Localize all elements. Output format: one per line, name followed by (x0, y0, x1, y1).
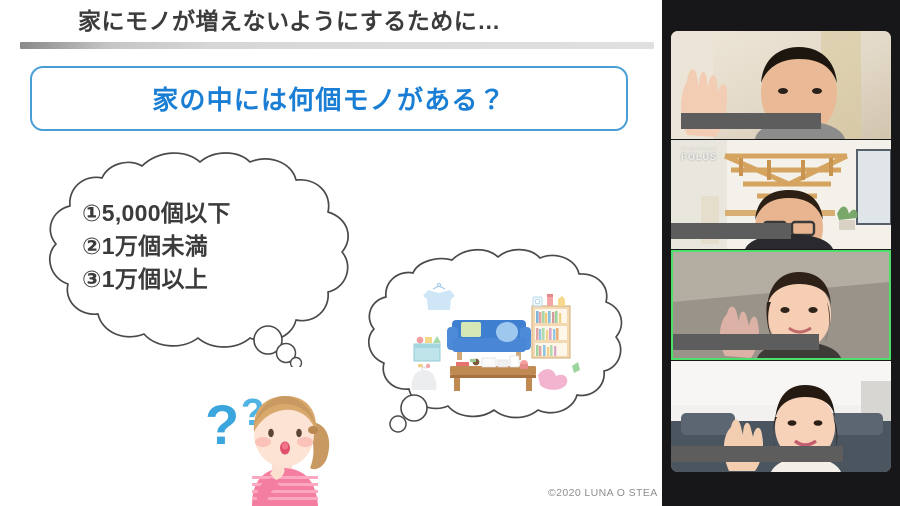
participant-name-bar (671, 446, 843, 462)
copyright-notice: ©2020 LUNA O STEA (548, 487, 658, 499)
question-box-label: 家の中には何個モノがある？ (152, 80, 506, 117)
stuffed-animal-icon (538, 369, 567, 390)
options-list: ①5,000個以下 ②1万個未満 ③1万個以上 (82, 197, 347, 296)
title-divider (20, 42, 654, 49)
list-item: ③1万個以上 (82, 263, 347, 296)
green-toy-icon (572, 362, 580, 373)
video-tile[interactable] (671, 361, 891, 472)
list-item: ①5,000個以下 (82, 197, 347, 230)
low-table-icon (450, 356, 536, 391)
screen: 家にモノが増えないようにするために… 家の中には何個モノがある？ ①5,000個… (0, 0, 900, 506)
room-thought-bubble (368, 248, 626, 433)
living-room-illustration (406, 278, 586, 393)
page-title: 家にモノが増えないようにするために… (78, 6, 638, 36)
video-tile-active-speaker[interactable] (671, 250, 891, 360)
hanging-shirt-icon (423, 283, 455, 310)
options-thought-bubble: ①5,000個以下 ②1万個未満 ③1万個以上 (30, 152, 375, 367)
participant-name-bar (681, 113, 821, 129)
polus-watermark: POLUS HOUSING POLUS (681, 147, 717, 162)
sofa-icon (447, 320, 531, 360)
toy-box-icon (414, 336, 441, 368)
thinking-woman-illustration (200, 382, 355, 506)
video-tile[interactable]: POLUS HOUSING POLUS (671, 140, 891, 249)
list-item: ②1万個未満 (82, 230, 347, 263)
participant-name-bar (673, 334, 819, 350)
question-box: 家の中には何個モノがある？ (30, 66, 628, 131)
beanbag-icon (412, 367, 437, 390)
video-call-panel: POLUS HOUSING POLUS (662, 0, 900, 506)
participant-name-bar (671, 223, 791, 239)
presentation-slide: 家にモノが増えないようにするために… 家の中には何個モノがある？ ①5,000個… (0, 0, 662, 506)
video-tile[interactable] (671, 31, 891, 139)
bookshelf-icon (532, 294, 570, 358)
